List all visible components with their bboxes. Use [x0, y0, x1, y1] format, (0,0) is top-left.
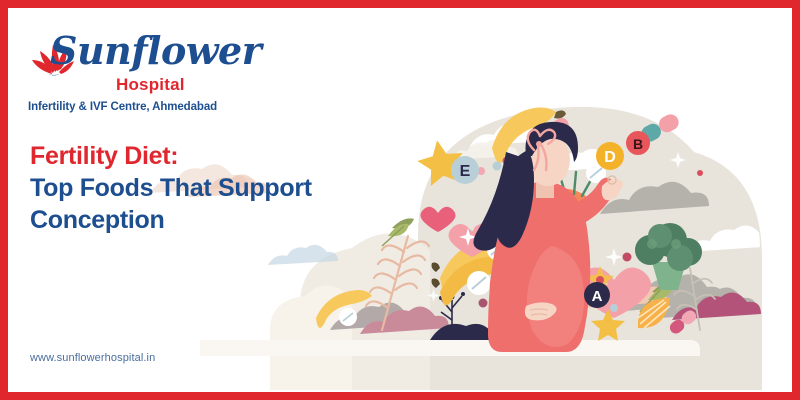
website-url[interactable]: www.sunflowerhospital.in — [30, 352, 155, 364]
vitamin-badge-e: E — [451, 156, 479, 184]
vitamin-badge-d: D — [596, 142, 624, 170]
brand-logo[interactable]: Sunflower Hospital Infertility & IVF Cen… — [28, 30, 258, 113]
vitamin-badge-a-label: A — [592, 288, 603, 305]
vitamin-badge-d-label: D — [604, 149, 616, 166]
vitamin-badge-a: A — [584, 282, 610, 308]
vitamin-badge-b: B — [626, 131, 650, 155]
fertility-diet-banner: E D B A S — [0, 0, 800, 400]
tablet-pill-icon-4 — [339, 308, 357, 326]
logo-tagline: Infertility & IVF Centre, Ahmedabad — [28, 101, 258, 113]
logo-subtitle: Hospital — [28, 76, 258, 95]
vitamin-badge-b-label: B — [633, 136, 643, 152]
title-line-1: Fertility Diet: — [30, 140, 390, 172]
page-title: Fertility Diet: Top Foods That Support C… — [30, 140, 390, 236]
logo-top-row: Sunflower — [28, 30, 258, 76]
floor-band — [200, 340, 700, 356]
title-line-3: Conception — [30, 204, 390, 236]
title-line-2: Top Foods That Support — [30, 172, 390, 204]
logo-wordmark: Sunflower — [50, 28, 261, 73]
vitamin-badge-e-label: E — [460, 163, 471, 180]
tablet-pill-icon — [467, 271, 491, 295]
